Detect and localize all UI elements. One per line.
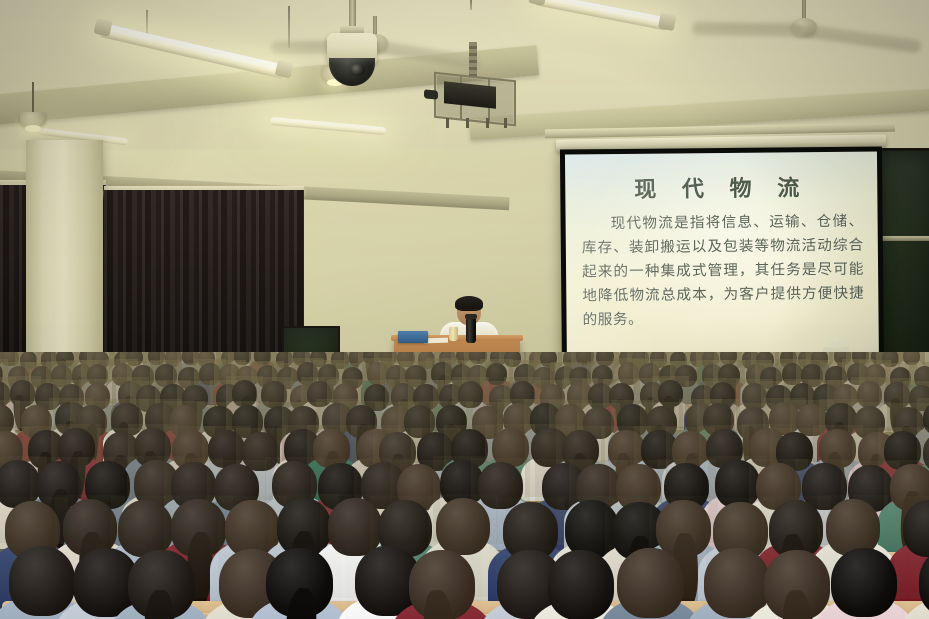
light-fitting bbox=[93, 18, 112, 37]
light-hanger bbox=[470, 0, 472, 10]
student bbox=[262, 548, 337, 619]
thermos-flask bbox=[466, 318, 476, 343]
laptop bbox=[398, 331, 428, 343]
student-head bbox=[548, 550, 614, 619]
student-head bbox=[234, 352, 252, 365]
student-head bbox=[857, 381, 882, 408]
projector-lens bbox=[424, 89, 438, 99]
student-head bbox=[742, 383, 767, 410]
student-head bbox=[720, 352, 738, 365]
student-head bbox=[617, 548, 683, 618]
projector-pole bbox=[469, 42, 477, 78]
light-fitting bbox=[658, 12, 677, 31]
lecture-hall-photo: 现 代 物 流 现代物流是指将信息、运输、仓储、库存、装卸搬运以及包装等物流活动… bbox=[0, 0, 929, 619]
student-head bbox=[9, 546, 75, 616]
student bbox=[124, 550, 199, 619]
student-head bbox=[596, 352, 614, 366]
student bbox=[613, 548, 688, 619]
projection-screen-surface: 现 代 物 流 现代物流是指将信息、运输、仓储、库存、装卸搬运以及包装等物流活动… bbox=[565, 152, 879, 373]
student bbox=[915, 547, 929, 619]
projector-foot bbox=[504, 118, 507, 128]
student bbox=[827, 548, 902, 619]
projector-foot bbox=[446, 118, 449, 128]
thermos-cap bbox=[465, 314, 477, 319]
student-head bbox=[831, 548, 897, 618]
student-head bbox=[576, 352, 594, 365]
projection-screen: 现 代 物 流 现代物流是指将信息、运输、仓储、库存、装卸搬运以及包装等物流活动… bbox=[560, 146, 884, 377]
paper-cup bbox=[449, 327, 458, 341]
audience-seating-area bbox=[0, 352, 929, 619]
student-head bbox=[436, 498, 491, 555]
student bbox=[759, 550, 834, 619]
dome-security-camera bbox=[326, 0, 378, 90]
projector-foot bbox=[486, 118, 489, 128]
student bbox=[404, 550, 479, 619]
student bbox=[543, 550, 618, 619]
ceiling-projector bbox=[434, 72, 512, 130]
light-hanger bbox=[288, 6, 290, 48]
slide-title: 现 代 物 流 bbox=[565, 170, 877, 205]
student-head bbox=[486, 363, 507, 386]
camera-lens bbox=[350, 64, 365, 76]
student-head bbox=[618, 362, 639, 385]
student-head bbox=[261, 381, 286, 408]
slide-body-text: 现代物流是指将信息、运输、仓储、库存、装卸搬运以及包装等物流活动综合起来的一种集… bbox=[582, 210, 865, 333]
student-head bbox=[458, 381, 483, 408]
projector-foot bbox=[466, 118, 469, 128]
